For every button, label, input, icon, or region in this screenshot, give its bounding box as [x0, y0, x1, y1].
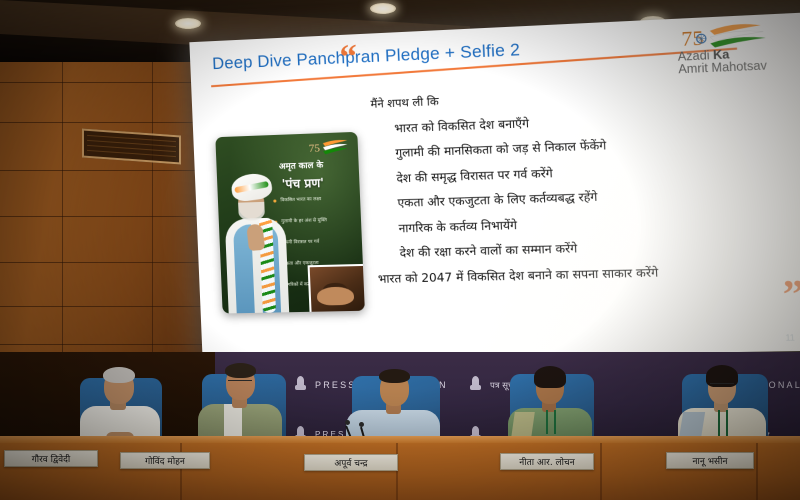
press-conference-photo: Deep Dive Panchpran Pledge + Selfie 2 75…: [0, 0, 800, 500]
national-emblem-icon: [470, 376, 481, 392]
microphone-head-icon: [345, 420, 350, 425]
nameplate-text: नानू भसीन: [693, 454, 728, 467]
amrit-kaal-panch-pran-poster: 75 अमृत काल के 'पंच प्रण' विकसित भारत का…: [215, 132, 365, 314]
pledge-line: एकता और एकजुटता के लिए कर्तव्यबद्ध रहेंग…: [397, 183, 800, 211]
pledge-line: भारत को 2047 में विकसित देश बनाने का सपन…: [378, 261, 800, 287]
svg-text:75: 75: [309, 142, 321, 155]
open-quote-icon: “: [339, 40, 358, 75]
poster-amrit-logo-icon: 75: [308, 138, 350, 156]
eyeglasses-icon: [710, 383, 734, 388]
pledge-text-block: मैंने शपथ ली कि भारत को विकसित देश बनाएँ…: [370, 79, 800, 296]
logo-amrit-mahotsav: Amrit Mahotsav: [678, 60, 767, 77]
wooden-wall-left: [0, 44, 215, 400]
pledge-line: भारत को विकसित देश बनाएँगे: [394, 105, 800, 136]
ceiling-light-icon: [175, 18, 201, 29]
nameplate-text: गोविंद मोहन: [145, 454, 185, 467]
nameplate: नानू भसीन: [666, 452, 754, 469]
national-emblem-icon: [295, 376, 306, 392]
desk-top-edge: [0, 436, 800, 443]
ceiling-light-icon: [370, 3, 396, 14]
pledge-line: देश की समृद्ध विरासत पर गर्व करेंगे: [396, 157, 800, 186]
nameplate: गोविंद मोहन: [120, 452, 210, 469]
pledge-line: देश की रक्षा करने वालों का सम्मान करेंगे: [399, 235, 800, 261]
slide-number: 11: [785, 333, 795, 343]
projection-screen: Deep Dive Panchpran Pledge + Selfie 2 75…: [189, 12, 800, 360]
logo-ka: Ka: [713, 49, 730, 62]
nameplate-text: गौरव द्विवेदी: [32, 452, 71, 465]
hands-holding-soil-inset: [308, 264, 365, 312]
nameplate-text: नीता आर. लोचन: [519, 455, 574, 468]
pledge-line: गुलामी की मानसिकता को जड़ से निकाल फेंके…: [395, 131, 800, 161]
nameplate: नीता आर. लोचन: [500, 453, 594, 470]
azadi-ka-amrit-mahotsav-logo: 75 Azadi Ka Amrit Mahotsav: [665, 18, 800, 79]
slide-title: Deep Dive Panchpran Pledge + Selfie 2: [212, 41, 521, 74]
pledge-line: नागरिक के कर्तव्य निभायेंगे: [398, 209, 800, 236]
nameplate: गौरव द्विवेदी: [4, 450, 98, 467]
nameplate: अपूर्व चन्द्र: [304, 454, 398, 471]
prime-minister-figure: [220, 161, 293, 314]
nameplate-text: अपूर्व चन्द्र: [334, 456, 367, 469]
air-vent-grille: [82, 129, 181, 165]
microphone-head-icon: [359, 422, 364, 427]
